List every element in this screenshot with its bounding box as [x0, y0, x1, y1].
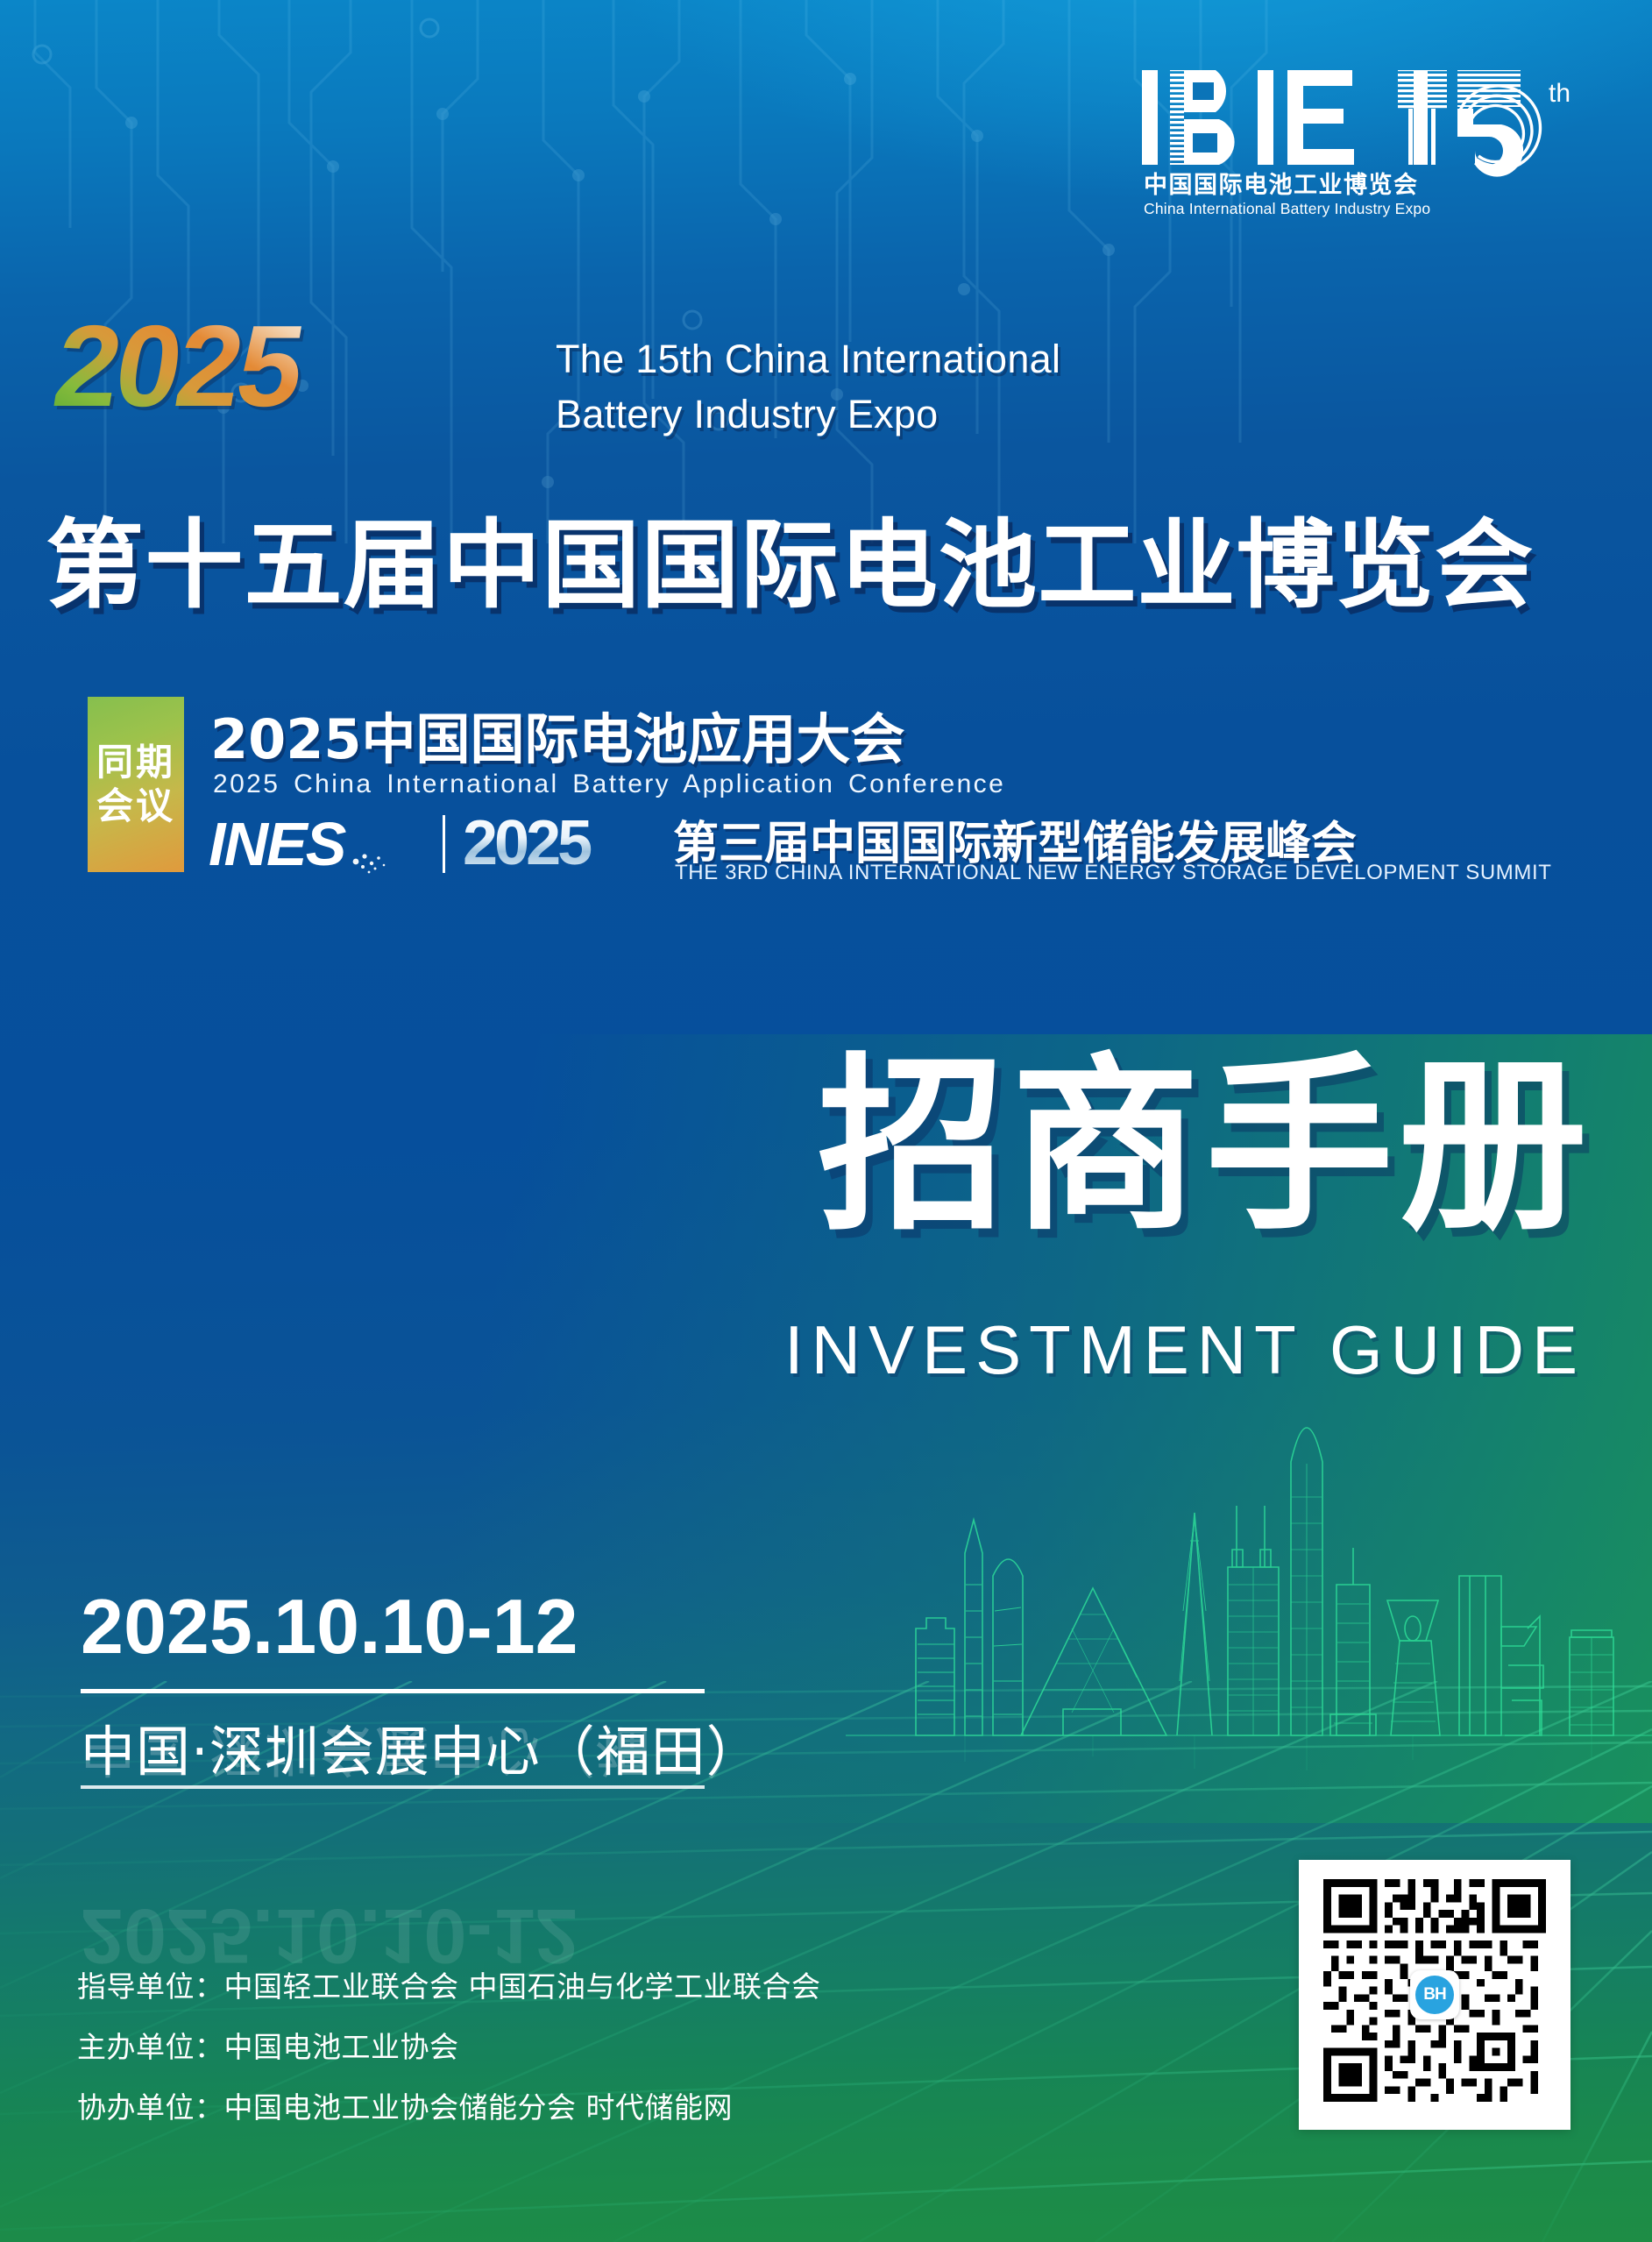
ibie-logo: th 中国国际电池工业博览会 China International Batte… [1142, 63, 1598, 221]
battery-application-conference-en: 2025 China International Battery Applica… [213, 770, 1005, 799]
badge-line-1: 同期 [96, 743, 175, 782]
poster-root: th 中国国际电池工业博览会 China International Batte… [0, 0, 1652, 2242]
page-title-english: INVESTMENT GUIDE [784, 1310, 1585, 1390]
organizations-list: 指导单位：中国轻工业联合会 中国石油与化学工业联合会 主办单位：中国电池工业协会… [77, 1972, 821, 2153]
organization-line: 主办单位：中国电池工业协会 [77, 2033, 821, 2061]
expo-english-title: The 15th China International Battery Ind… [556, 331, 1060, 442]
organization-line: 指导单位：中国轻工业联合会 中国石油与化学工业联合会 [77, 1972, 821, 2001]
svg-text:th: th [1549, 79, 1570, 108]
svg-text:2025: 2025 [463, 808, 592, 876]
event-date: 2025.10.10-12 [81, 1582, 578, 1671]
badge-line-2: 会议 [96, 787, 175, 826]
organization-line: 协办单位：中国电池工业协会储能分会 时代储能网 [77, 2093, 821, 2122]
ibie-logo-cn-name: 中国国际电池工业博览会 [1144, 171, 1419, 199]
divider-top [81, 1689, 705, 1693]
ibie-logo-en-name: China International Battery Industry Exp… [1144, 200, 1430, 217]
battery-application-conference-cn: 2025中国国际电池应用大会 [210, 695, 905, 774]
bh-logo-text: BH [1415, 1976, 1454, 2014]
energy-storage-summit-en: THE 3RD CHINA INTERNATIONAL NEW ENERGY S… [675, 861, 1551, 885]
venue-reflection: 中国·深圳会展中心（福田） [81, 1716, 762, 1795]
concurrent-conference-badge: 同期 会议 [88, 697, 184, 872]
qr-code-card[interactable]: BH [1299, 1860, 1570, 2130]
date-reflection: 2025.10.10-12 [81, 1891, 578, 1981]
svg-text:INES: INES [209, 811, 346, 878]
qr-center-logo: BH [1410, 1970, 1459, 2019]
ines-year-2025: 2025 [463, 806, 627, 876]
year-2025-graphic: 2025 2025 [53, 311, 342, 429]
svg-text:2025: 2025 [53, 311, 310, 429]
ines-logo: INES [209, 811, 428, 879]
page-title-chinese: 招商手册 [818, 1052, 1592, 1240]
ines-divider [443, 815, 445, 873]
expo-chinese-title: 第十五届中国国际电池工业博览会 [46, 486, 1646, 627]
